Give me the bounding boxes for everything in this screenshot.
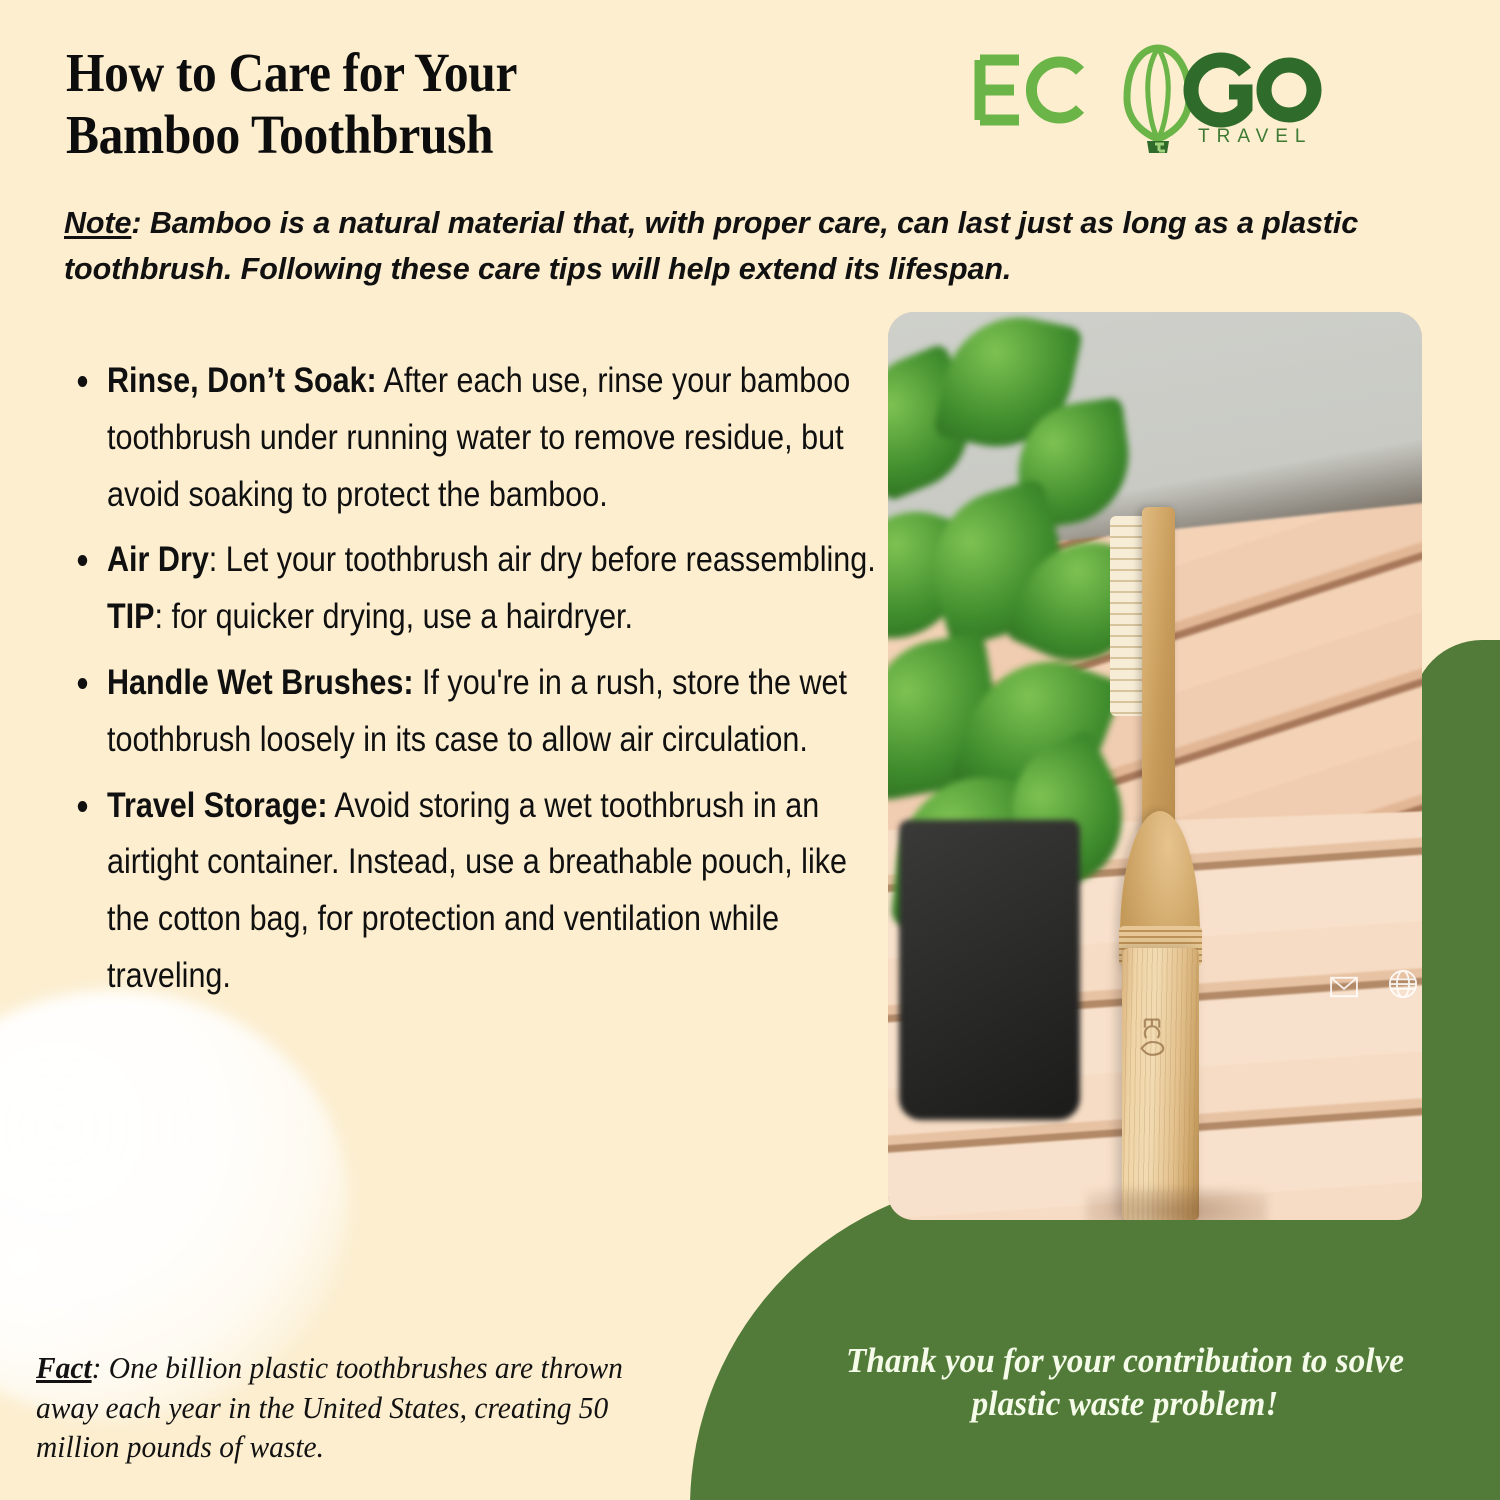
tip-heading: Handle Wet Brushes: [107,662,413,702]
fact-body: : One billion plastic toothbrushes are t… [36,1350,623,1464]
brand-logo: TRAVEL [962,38,1322,163]
thank-you-message: Thank you for your contribution to solve… [797,1340,1453,1425]
gel-blob-ring-decoration [0,1190,125,1365]
product-photo [888,312,1422,1220]
toothbrush-head [1142,507,1175,834]
page-title: How to Care for Your Bamboo Toothbrush [66,42,696,165]
page-title-line-1: How to Care for Your [66,42,696,104]
photo-shadow [1086,1188,1268,1220]
toothbrush-bristles [1110,516,1145,716]
globe-icon [1388,969,1418,999]
green-accent-strip [1412,640,1500,1240]
case-engraved-logo [1136,995,1168,1086]
tip-heading: Air Dry [107,539,209,579]
note-paragraph: Note: Bamboo is a natural material that,… [64,200,1444,293]
note-label: Note [64,206,131,240]
tip-body-secondary: : for quicker drying, use a hairdryer. [155,596,634,636]
tip-body: : Let your toothbrush air dry before rea… [209,539,876,579]
tip-heading: Travel Storage: [107,785,328,825]
bullet-dot-icon [78,801,87,812]
thank-you-line-1: Thank you for your contribution to solve [797,1340,1453,1383]
hot-air-balloon-icon [1127,48,1189,153]
page-title-line-2: Bamboo Toothbrush [66,104,696,166]
list-item: Rinse, Don’t Soak: After each use, rinse… [64,352,890,522]
list-item: Air Dry: Let your toothbrush air dry bef… [64,531,890,645]
green-banner-shape [690,1178,1500,1500]
fact-label: Fact [36,1350,92,1385]
tip-heading-secondary: TIP [107,596,155,636]
note-body: : Bamboo is a natural material that, wit… [64,206,1358,286]
tip-heading: Rinse, Don’t Soak: [107,360,377,400]
list-item: Handle Wet Brushes: If you're in a rush,… [64,654,890,768]
list-item: Travel Storage: Avoid storing a wet toot… [64,777,890,1004]
infographic-page: How to Care for Your Bamboo Toothbrush [0,0,1500,1500]
thank-you-line-2: plastic waste problem! [797,1383,1453,1426]
care-tips-list: Rinse, Don’t Soak: After each use, rinse… [64,352,884,1013]
fact-paragraph: Fact: One billion plastic toothbrushes a… [36,1348,692,1467]
photo-plant-pot [899,820,1081,1120]
logo-tagline: TRAVEL [1198,126,1313,147]
bullet-dot-icon [78,555,87,566]
mail-icon [1329,975,1359,999]
bullet-dot-icon [78,678,87,689]
bullet-dot-icon [78,376,87,387]
